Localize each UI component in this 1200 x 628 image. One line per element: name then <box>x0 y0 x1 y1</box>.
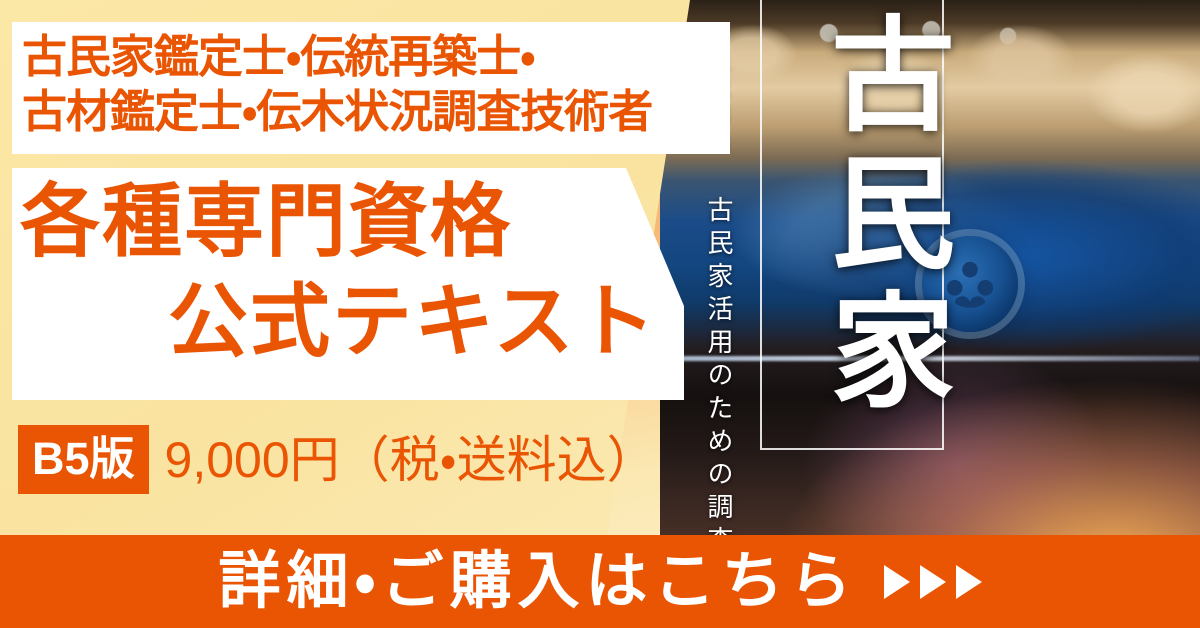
cta-bar[interactable]: 詳細・ご購入はこちら <box>0 535 1200 628</box>
promo-banner: 伝統構法 古民家活用のための調査と再生の 古民家 古民家鑑定士・伝統再築士・ 古… <box>0 0 1200 628</box>
cta-label: 詳細・ご購入はこちら <box>218 551 857 613</box>
title-line-1: 各種専門資格 <box>20 182 512 262</box>
title-line-2: 公式テキスト <box>168 282 658 362</box>
triangle-right-icon <box>956 565 982 599</box>
price-text: 9,000円（税・送料込） <box>165 435 657 485</box>
cta-arrows <box>884 565 982 599</box>
triangle-right-icon <box>920 565 946 599</box>
cover-title: 古民家 <box>790 10 970 424</box>
headline: 古民家鑑定士・伝統再築士・ 古材鑑定士・伝木状況調査技術者 <box>16 30 728 140</box>
triangle-right-icon <box>884 565 910 599</box>
headline-line-2: 古材鑑定士・伝木状況調査技術者 <box>16 85 728 140</box>
headline-line-1: 古民家鑑定士・伝統再築士・ <box>16 30 728 85</box>
price-row: B5版 9,000円（税・送料込） <box>18 425 657 494</box>
format-badge: B5版 <box>18 425 149 494</box>
